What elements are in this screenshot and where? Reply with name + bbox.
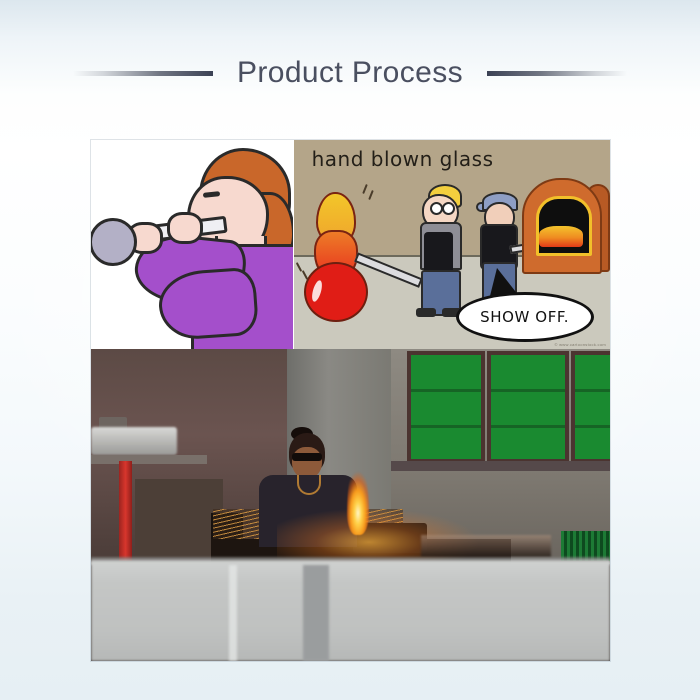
motion-line-icon [368, 190, 374, 200]
window-bar [411, 389, 481, 392]
cartoon-caption: hand blown glass [312, 147, 494, 171]
shelf-bar [91, 455, 207, 464]
green-window-pane [571, 351, 610, 463]
window-bar [575, 425, 610, 428]
bench-tools [421, 535, 551, 557]
blower-shoe-icon [416, 308, 436, 317]
blower-eye-icon [430, 202, 443, 215]
cartoon-hand-blown-glass-panel: hand blown glass [293, 140, 610, 349]
red-pipe [119, 461, 132, 561]
photo-torch-workshop-panel [91, 349, 610, 661]
sunglasses-icon [292, 453, 322, 461]
gradient-rule-left-icon [73, 71, 213, 76]
hand-back-icon [167, 212, 203, 244]
page-title: Product Process [237, 58, 463, 88]
cartoon-glassblower-panel [91, 140, 293, 349]
foreground-seam [229, 565, 237, 661]
window-bar [491, 389, 565, 392]
title-row: Product Process [0, 52, 700, 94]
page-root: Product Process [0, 0, 700, 700]
speech-bubble: SHOW OFF. [456, 292, 594, 342]
window-bar [575, 389, 610, 392]
furnace-flame-icon [539, 226, 583, 247]
window-sill [391, 461, 610, 471]
window-bar [411, 425, 481, 428]
blower-eye-icon [442, 202, 455, 215]
product-image[interactable]: hand blown glass [91, 140, 610, 661]
cartoon-strip: hand blown glass [91, 140, 610, 349]
speech-bubble-text: SHOW OFF. [480, 308, 569, 326]
dark-shelving [135, 479, 223, 557]
foreground-post [303, 565, 329, 661]
glass-bulb-icon [91, 218, 137, 266]
green-window-pane [487, 351, 569, 463]
window-bar [491, 425, 565, 428]
motion-line-icon [362, 184, 368, 194]
cartoon-credit: © www.cartoonstock.com [554, 342, 606, 347]
page-header: Product Process [0, 0, 700, 132]
green-window-pane [407, 351, 485, 463]
metal-duct [91, 427, 177, 455]
foreground-wall [91, 561, 610, 661]
gradient-rule-right-icon [487, 71, 627, 76]
